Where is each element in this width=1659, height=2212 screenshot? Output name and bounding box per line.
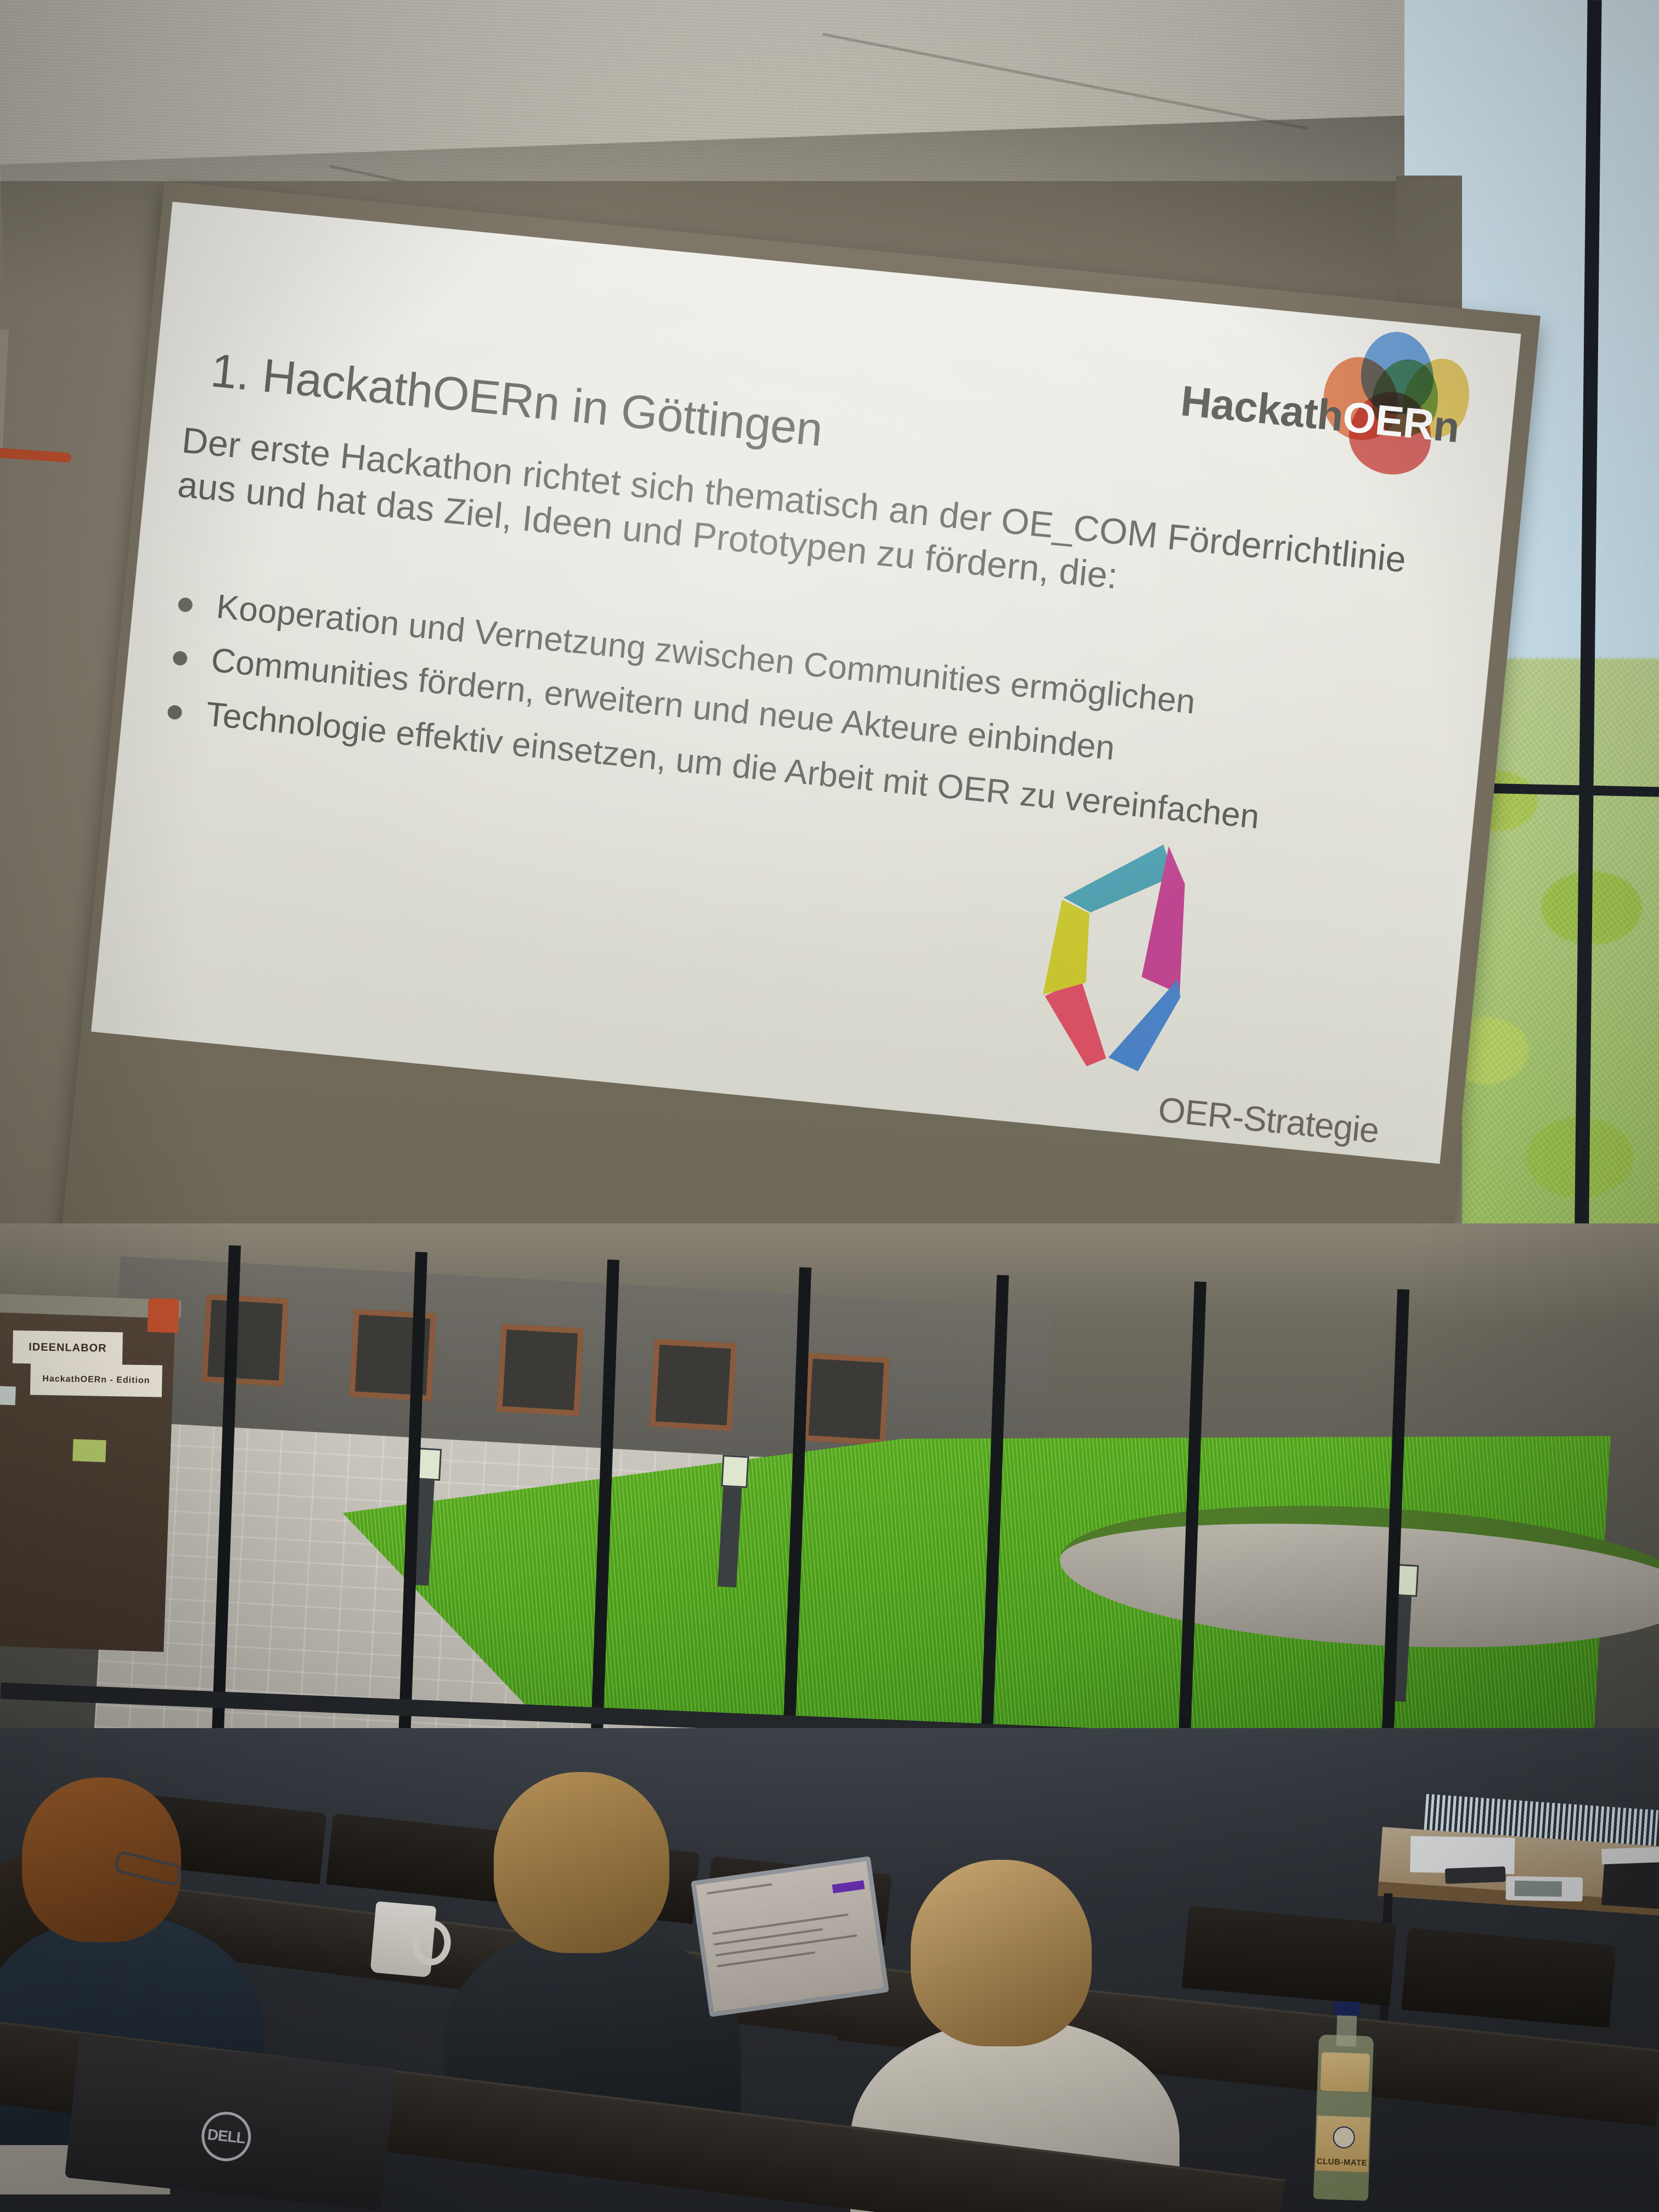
dell-logo: DELL: [199, 2109, 253, 2164]
person-head: [911, 1860, 1092, 2046]
coffee-mug: [370, 1901, 437, 1977]
seat-back: [326, 1813, 513, 1903]
oer-strategie-logo: OER-Strategie: [1019, 831, 1408, 1161]
courtyard-window: [201, 1294, 289, 1386]
wordmark-highlight: OER: [1340, 392, 1436, 449]
club-mate-bottle: CLUB-MATE: [1313, 2001, 1375, 2200]
slide-bullet-list: Kooperation und Vernetzung zwischen Comm…: [153, 582, 1457, 869]
oer-pentagon-icon: [1025, 831, 1277, 1088]
open-laptop[interactable]: [691, 1856, 889, 2017]
hackathoern-logo: HackathOERn: [1020, 301, 1481, 487]
pinboard: IDEENLABOR HackathOERn - Edition: [0, 1306, 176, 1652]
pinboard-corner-cap: [148, 1298, 179, 1333]
screenshot-root: HackathOERn 1. HackathOERn in Göttingen …: [0, 0, 1659, 2212]
courtyard-window: [803, 1353, 890, 1445]
bottle-neck-label: [1321, 2052, 1370, 2092]
pinboard-sign-ideenlabor: IDEENLABOR: [13, 1330, 123, 1365]
seat-back: [1401, 1928, 1616, 2028]
projected-slide: HackathOERn 1. HackathOERn in Göttingen …: [91, 202, 1521, 1164]
bottle-cap: [1334, 2001, 1361, 2016]
wordmark-suffix: n: [1431, 401, 1462, 452]
seat-back: [1182, 1906, 1397, 2006]
bottle-label: CLUB-MATE: [1316, 2115, 1370, 2172]
person-head: [494, 1772, 669, 1953]
bottle-brand-text: CLUB-MATE: [1316, 2157, 1367, 2172]
pinned-card: [0, 1386, 16, 1406]
courtyard-window: [496, 1324, 584, 1416]
pinboard-sign-edition: HackathOERn - Edition: [30, 1363, 162, 1397]
courtyard-window: [650, 1339, 737, 1431]
sticky-note: [72, 1439, 106, 1462]
